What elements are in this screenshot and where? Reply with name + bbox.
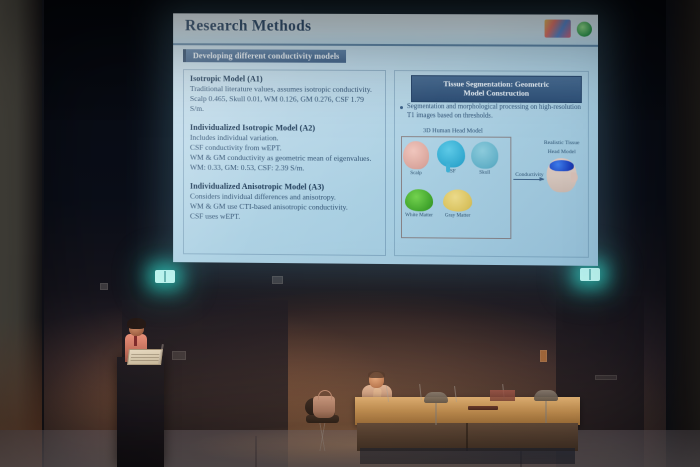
folder-on-table [468, 406, 498, 410]
tissue-label: White Matter [405, 212, 433, 218]
realistic-head-model: Realistic Tissue Head Model [542, 140, 582, 192]
diagram-caption: 3D Human Head Model [423, 127, 483, 134]
tissue-label: Skull [471, 170, 498, 176]
presenter-hair [127, 318, 146, 329]
name-placard [490, 390, 515, 401]
header-line-2: Model Construction [416, 88, 577, 98]
wall-fixture [540, 350, 547, 362]
model-line: CSF uses wEPT. [190, 212, 379, 223]
model-heading: Individualized Isotropic Model (A2) [190, 123, 379, 133]
arrow-line-icon [513, 179, 543, 180]
panel-table-seam [466, 423, 468, 451]
model-block-a3: Individualized Anisotropic Model (A3) Co… [190, 182, 379, 223]
right-wall [666, 0, 700, 467]
left-content-box: Isotropic Model (A1) Traditional literat… [183, 69, 386, 256]
csf-shape-icon [437, 140, 465, 167]
page-title: Research Methods [185, 17, 311, 35]
model-list: Isotropic Model (A1) Traditional literat… [190, 74, 379, 232]
slide-title-bar: Research Methods [173, 13, 598, 47]
model-block-a1: Isotropic Model (A1) Traditional literat… [190, 74, 379, 115]
laptop-keyboard [130, 354, 159, 362]
left-wall [0, 0, 42, 467]
podium [117, 357, 164, 467]
desk-lamp [424, 392, 448, 403]
exit-sign-icon [155, 270, 175, 283]
desk-lamp-pole [435, 403, 437, 425]
segmentation-bullet: Segmentation and morphological processin… [400, 103, 581, 122]
lanyard [134, 336, 137, 346]
section-banner-label: Developing different conductivity models [193, 51, 340, 61]
left-wall-seam [42, 0, 44, 467]
backpack [313, 396, 335, 418]
tissue-gray-matter: Gray Matter [443, 189, 472, 218]
colorful-logo-icon [545, 20, 571, 38]
model-line: WM: 0.33, GM: 0.53, CSF: 2.39 S/m. [190, 163, 379, 174]
bullet-dot-icon [400, 106, 403, 109]
model-heading: Isotropic Model (A1) [190, 74, 379, 84]
head-model-diagram: 3D Human Head Model Scalp CSF Skull Whit… [399, 127, 584, 253]
white-matter-shape-icon [405, 189, 433, 211]
skull-shape-icon [471, 142, 498, 169]
auditorium-scene: Research Methods Developing different co… [0, 0, 700, 467]
panelist-hair [368, 371, 385, 378]
result-label-1: Realistic Tissue [542, 140, 582, 147]
floor-seam-left [255, 436, 257, 467]
gray-matter-shape-icon [443, 189, 472, 211]
tissue-label: Scalp [403, 170, 429, 176]
scalp-shape-icon [403, 141, 429, 169]
section-banner: Developing different conductivity models [183, 49, 346, 63]
model-block-a2: Individualized Isotropic Model (A2) Incl… [190, 123, 379, 174]
desk-lamp-pole [545, 401, 547, 423]
right-content-box: Tissue Segmentation: Geometric Model Con… [394, 70, 589, 258]
tissue-label: CSF [437, 168, 465, 174]
desk-lamp [534, 390, 558, 401]
tissue-csf: CSF [437, 140, 465, 174]
projected-slide: Research Methods Developing different co… [173, 13, 598, 266]
panel-table-legs [360, 448, 575, 464]
result-label-2: Head Model [542, 149, 582, 156]
wall-fixture [595, 375, 617, 380]
model-heading: Individualized Anisotropic Model (A3) [190, 182, 379, 192]
tissue-skull: Skull [471, 142, 498, 176]
slide-logos [545, 20, 592, 38]
tissue-label: Gray Matter [443, 212, 472, 218]
head-model-shape-icon [547, 158, 577, 192]
green-circle-logo-icon [577, 21, 592, 36]
bullet-text: Segmentation and morphological processin… [407, 103, 581, 122]
tissue-segmentation-header: Tissue Segmentation: Geometric Model Con… [411, 75, 582, 102]
exit-sign-icon [580, 268, 600, 281]
chair-legs [310, 423, 336, 451]
wall-fixture [100, 283, 108, 290]
wall-fixture [172, 351, 186, 360]
tissue-scalp: Scalp [403, 141, 429, 176]
tissue-white-matter: White Matter [405, 189, 433, 218]
model-line: Scalp 0.465, Skull 0.01, WM 0.126, GM 0.… [190, 94, 379, 115]
wall-fixture [272, 276, 283, 284]
